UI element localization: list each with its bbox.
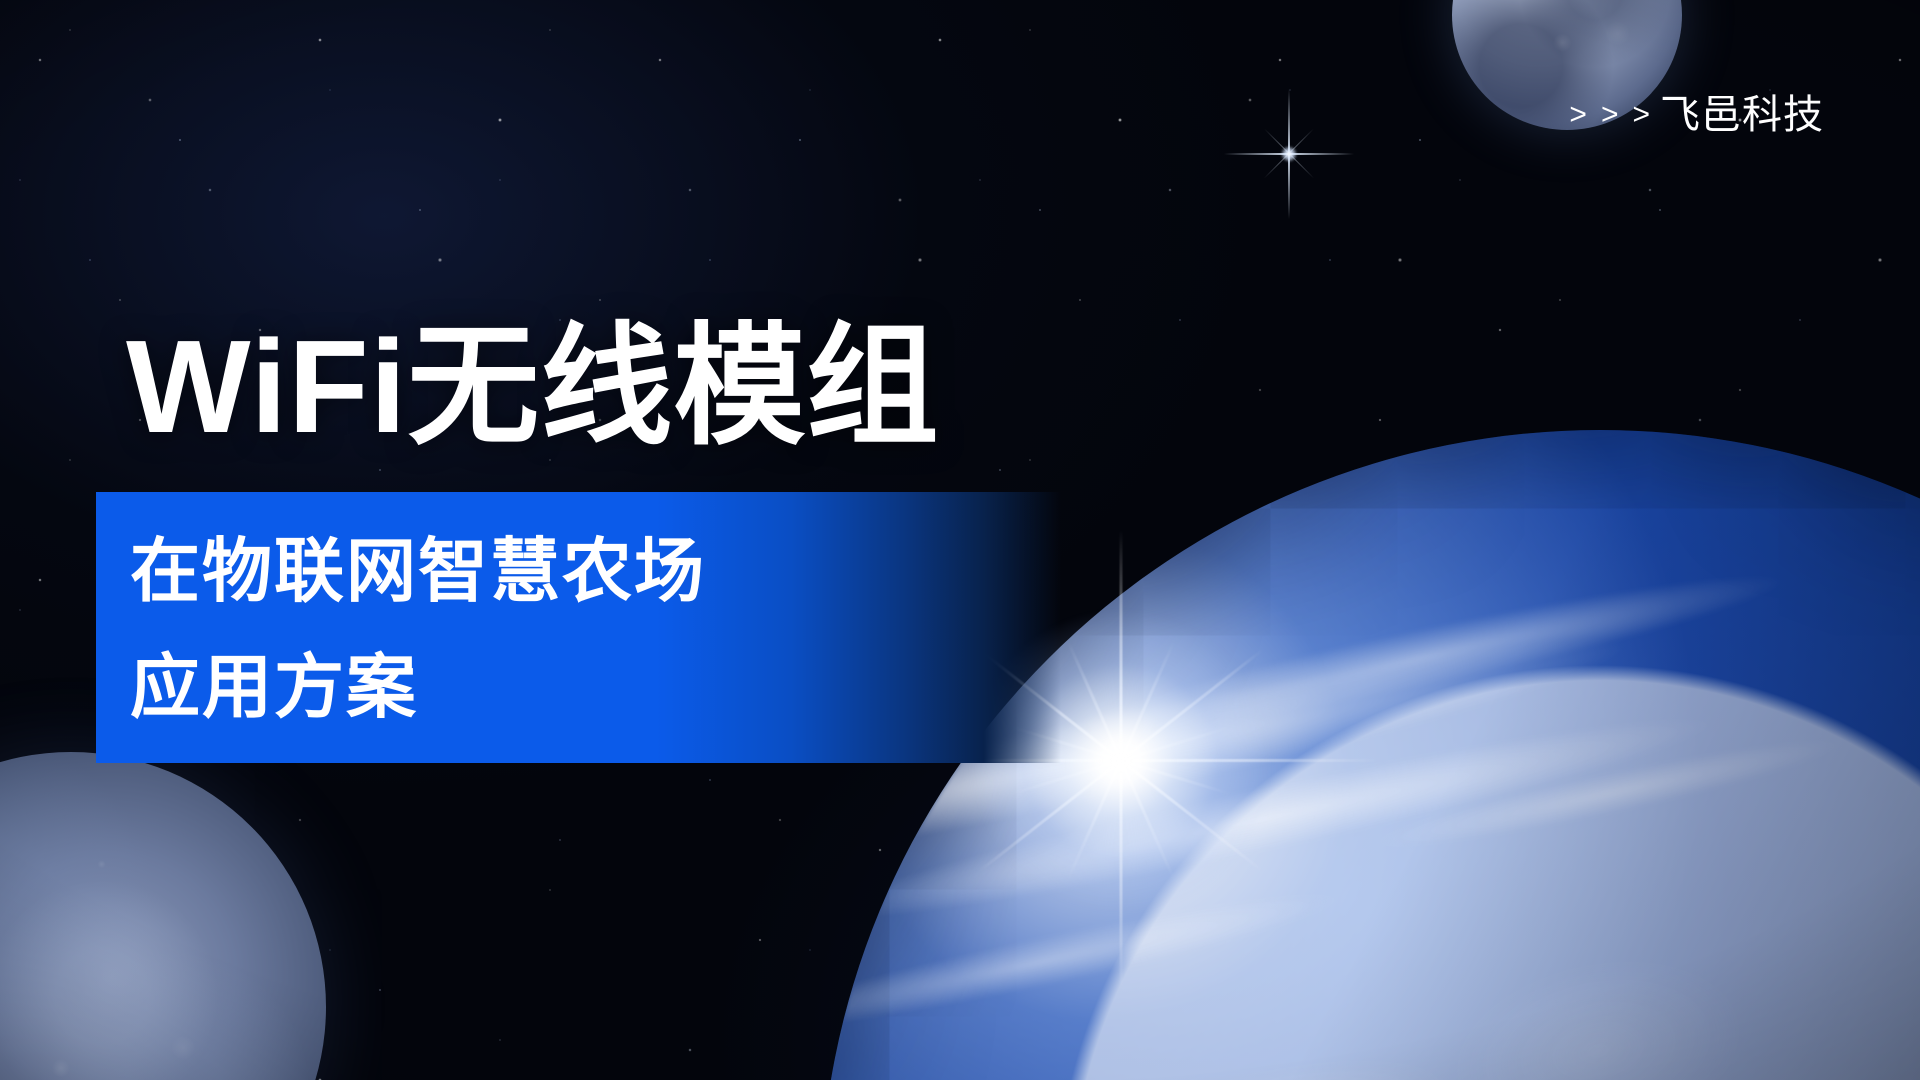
chevron-right-icon: > bbox=[1601, 100, 1619, 130]
page-title: WiFi无线模组 bbox=[126, 317, 939, 457]
brand-name: 飞邑科技 bbox=[1660, 95, 1824, 135]
subtitle-banner: 在物联网智慧农场 应用方案 bbox=[96, 492, 1061, 763]
chevron-right-icon: > bbox=[1632, 100, 1650, 130]
chevron-right-icon: > bbox=[1569, 100, 1587, 130]
brand-chevrons: > > > bbox=[1569, 100, 1650, 130]
brand-logo: > > > 飞邑科技 bbox=[1569, 95, 1824, 135]
subtitle-line-2: 应用方案 bbox=[130, 652, 418, 722]
subtitle-line-1: 在物联网智慧农场 bbox=[130, 536, 706, 606]
poster-canvas: > > > 飞邑科技 WiFi无线模组 在物联网智慧农场 应用方案 bbox=[0, 0, 1920, 1080]
